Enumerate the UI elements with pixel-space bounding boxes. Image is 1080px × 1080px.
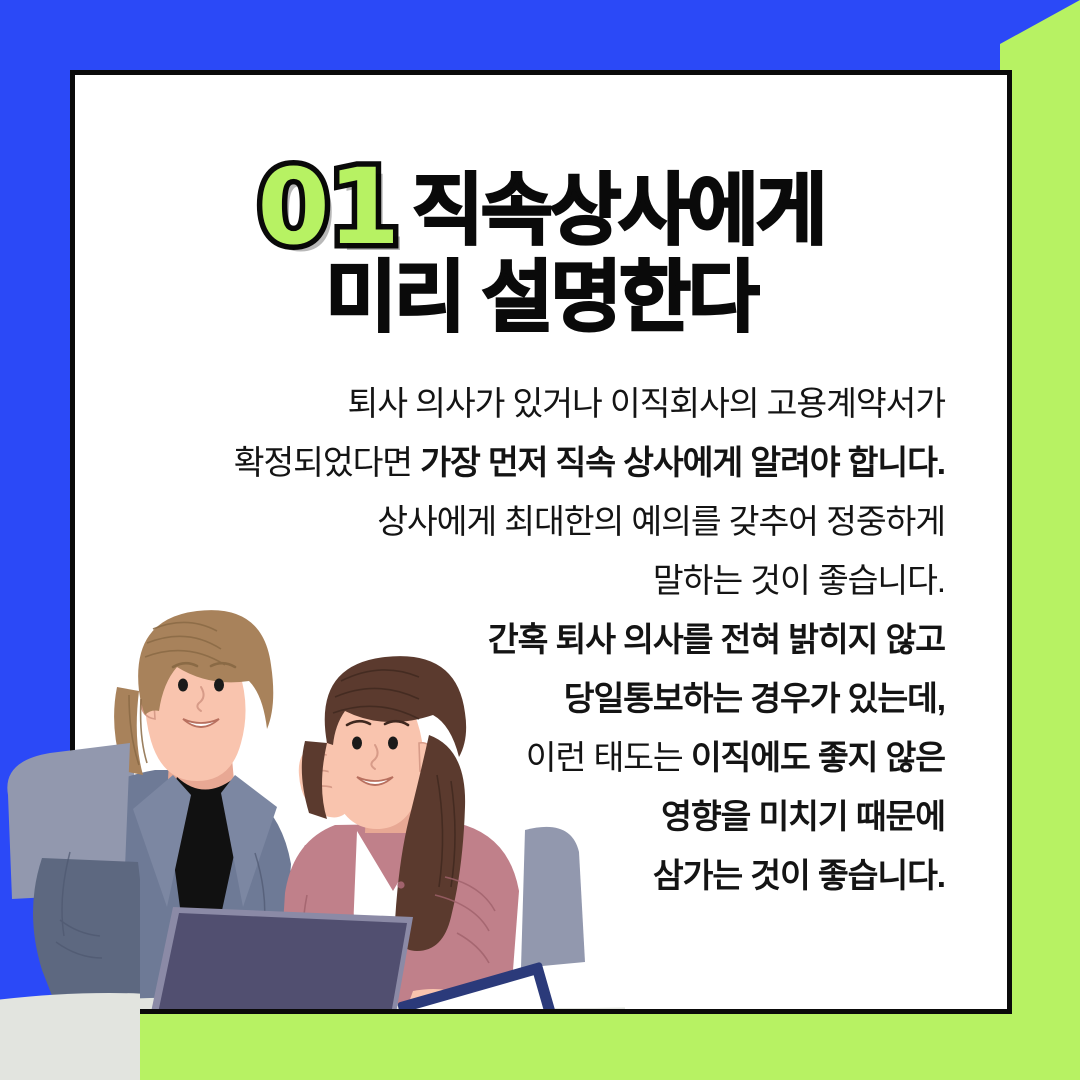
body-line-3: 상사에게 최대한의 예의를 갖추어 정중하게 bbox=[125, 493, 945, 552]
body-line-7-segment-1: 이런 태도는 bbox=[526, 740, 691, 777]
headline-block: 01직속상사에게 미리 설명한다 bbox=[75, 155, 1007, 338]
body-line-2-segment-2: 가장 먼저 직속 상사에게 알려야 합니다. bbox=[420, 445, 945, 482]
body-paragraph: 퇴사 의사가 있거나 이직회사의 고용계약서가확정되었다면 가장 먼저 직속 상… bbox=[125, 375, 945, 906]
body-line-8-segment-1: 영향을 미치기 때문에 bbox=[661, 799, 945, 836]
body-line-4-segment-1: 말하는 것이 좋습니다. bbox=[653, 563, 945, 600]
step-number-badge: 01 bbox=[257, 155, 398, 259]
headline-row-2: 미리 설명한다 bbox=[75, 257, 1007, 338]
body-line-8: 영향을 미치기 때문에 bbox=[125, 788, 945, 847]
desk-overflow bbox=[0, 993, 140, 1080]
left-woman-arm-overflow bbox=[33, 858, 140, 1006]
body-line-9: 삼가는 것이 좋습니다. bbox=[125, 847, 945, 906]
body-line-3-segment-1: 상사에게 최대한의 예의를 갖추어 정중하게 bbox=[377, 504, 945, 541]
illustration-overflow-left bbox=[0, 590, 140, 1080]
headline-row-1: 01직속상사에게 bbox=[75, 155, 1007, 259]
headline-line-1: 직속상사에게 bbox=[412, 170, 825, 251]
laptop-screen-back bbox=[153, 913, 407, 1014]
body-line-6-segment-1: 당일통보하는 경우가 있는데, bbox=[564, 681, 945, 718]
body-line-1-segment-1: 퇴사 의사가 있거나 이직회사의 고용계약서가 bbox=[347, 386, 945, 423]
body-line-5-segment-1: 간혹 퇴사 의사를 전혀 밝히지 않고 bbox=[488, 622, 945, 659]
body-line-7: 이런 태도는 이직에도 좋지 않은 bbox=[125, 729, 945, 788]
body-line-4: 말하는 것이 좋습니다. bbox=[125, 552, 945, 611]
background-green-right-column bbox=[1000, 0, 1080, 1080]
body-line-1: 퇴사 의사가 있거나 이직회사의 고용계약서가 bbox=[125, 375, 945, 434]
body-line-2-segment-1: 확정되었다면 bbox=[234, 445, 421, 482]
body-line-2: 확정되었다면 가장 먼저 직속 상사에게 알려야 합니다. bbox=[125, 434, 945, 493]
headline-line-2: 미리 설명한다 bbox=[325, 257, 756, 338]
content-card: 01직속상사에게 미리 설명한다 퇴사 의사가 있거나 이직회사의 고용계약서가… bbox=[70, 70, 1012, 1014]
body-line-6: 당일통보하는 경우가 있는데, bbox=[125, 670, 945, 729]
body-line-5: 간혹 퇴사 의사를 전혀 밝히지 않고 bbox=[125, 611, 945, 670]
body-line-7-segment-2: 이직에도 좋지 않은 bbox=[691, 740, 945, 777]
body-line-9-segment-1: 삼가는 것이 좋습니다. bbox=[653, 858, 945, 895]
